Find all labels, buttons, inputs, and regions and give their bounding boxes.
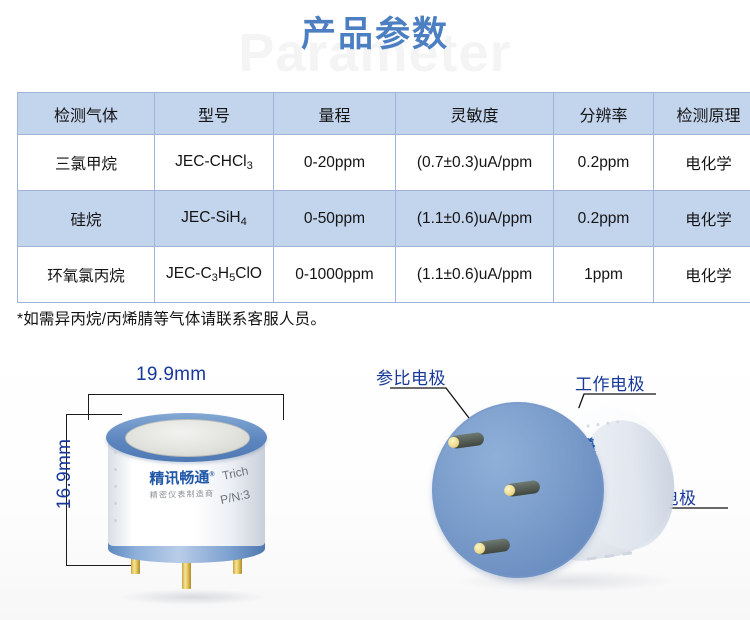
cell-resolution: 0.2ppm <box>554 191 654 247</box>
cell-resolution: 1ppm <box>554 247 654 303</box>
table-row: 环氧氯丙烷 JEC-C3H5ClO 0-1000ppm (1.1±0.6)uA/… <box>18 247 750 303</box>
column-header-resolution: 分辨率 <box>554 93 654 135</box>
sensor-bottom-view: 精讯畅通 精密仪表制造商 <box>428 398 688 598</box>
cell-range: 0-20ppm <box>274 135 396 191</box>
cell-gas: 硅烷 <box>18 191 155 247</box>
page-title: 产品参数 <box>0 14 750 56</box>
sensor-electrode-figure: 参比电极 工作电极 对电极 精讯畅通 精密仪表制造商 <box>368 350 750 615</box>
label-reference-electrode: 参比电极 <box>376 364 446 389</box>
label-working-electrode: 工作电极 <box>575 370 645 395</box>
column-header-gas: 检测气体 <box>18 93 155 135</box>
cell-range: 0-50ppm <box>274 191 396 247</box>
column-header-principle: 检测原理 <box>654 93 750 135</box>
cell-sensitivity: (1.1±0.6)uA/ppm <box>396 247 554 303</box>
cell-principle: 电化学 <box>654 135 750 191</box>
model-text: JEC-SiH <box>181 209 240 226</box>
sensor-dimension-figure: 19.9mm 16.9mm 精讯畅通® 精密仪表制造商 Trich P/N:3 <box>40 358 340 613</box>
column-header-range: 量程 <box>274 93 396 135</box>
model-text-suffix: ClO <box>235 265 262 282</box>
cell-sensitivity: (1.1±0.6)uA/ppm <box>396 191 554 247</box>
page-header: Parameter 产品参数 <box>0 0 750 88</box>
model-text: JEC-CHCl <box>175 153 246 170</box>
model-subscript: 4 <box>241 216 247 228</box>
cell-principle: 电化学 <box>654 191 750 247</box>
parameter-table: 检测气体 型号 量程 灵敏度 分辨率 检测原理 三氯甲烷 JEC-CHCl3 0… <box>17 92 750 303</box>
table-row: 硅烷 JEC-SiH4 0-50ppm (1.1±0.6)uA/ppm 0.2p… <box>18 191 750 247</box>
width-dimension-label: 19.9mm <box>136 364 206 386</box>
sensor-membrane <box>125 419 250 457</box>
column-header-model: 型号 <box>155 93 274 135</box>
cell-model: JEC-SiH4 <box>155 191 274 247</box>
sensor-front-view: 精讯畅通® 精密仪表制造商 Trich P/N:3 <box>100 403 272 578</box>
brand-logo-text: 精讯畅通® <box>130 470 234 488</box>
table-row: 三氯甲烷 JEC-CHCl3 0-20ppm (0.7±0.3)uA/ppm 0… <box>18 135 750 191</box>
registered-mark-icon: ® <box>209 471 214 478</box>
cell-model: JEC-C3H5ClO <box>155 247 274 303</box>
sensor-vent-dots <box>114 451 118 531</box>
model-text-mid: H <box>218 265 229 282</box>
sensor-shadow <box>118 589 268 605</box>
product-figure-area: 19.9mm 16.9mm 精讯畅通® 精密仪表制造商 Trich P/N:3 <box>0 340 750 620</box>
cell-resolution: 0.2ppm <box>554 135 654 191</box>
cell-principle: 电化学 <box>654 247 750 303</box>
table-footnote: *如需异丙烷/丙烯腈等气体请联系客服人员。 <box>17 307 326 329</box>
width-tick-right <box>283 394 284 420</box>
cell-range: 0-1000ppm <box>274 247 396 303</box>
table-header-row: 检测气体 型号 量程 灵敏度 分辨率 检测原理 <box>18 93 750 135</box>
cell-model: JEC-CHCl3 <box>155 135 274 191</box>
width-dimension-line <box>88 394 284 395</box>
model-text: JEC-C <box>166 265 212 282</box>
cell-sensitivity: (0.7±0.3)uA/ppm <box>396 135 554 191</box>
width-tick-left <box>88 394 89 420</box>
cell-gas: 环氧氯丙烷 <box>18 247 155 303</box>
brand-name: 精讯畅通 <box>149 469 209 488</box>
model-subscript: 3 <box>247 160 253 172</box>
column-header-sensitivity: 灵敏度 <box>396 93 554 135</box>
height-dimension-label: 16.9mm <box>54 439 76 509</box>
cell-gas: 三氯甲烷 <box>18 135 155 191</box>
